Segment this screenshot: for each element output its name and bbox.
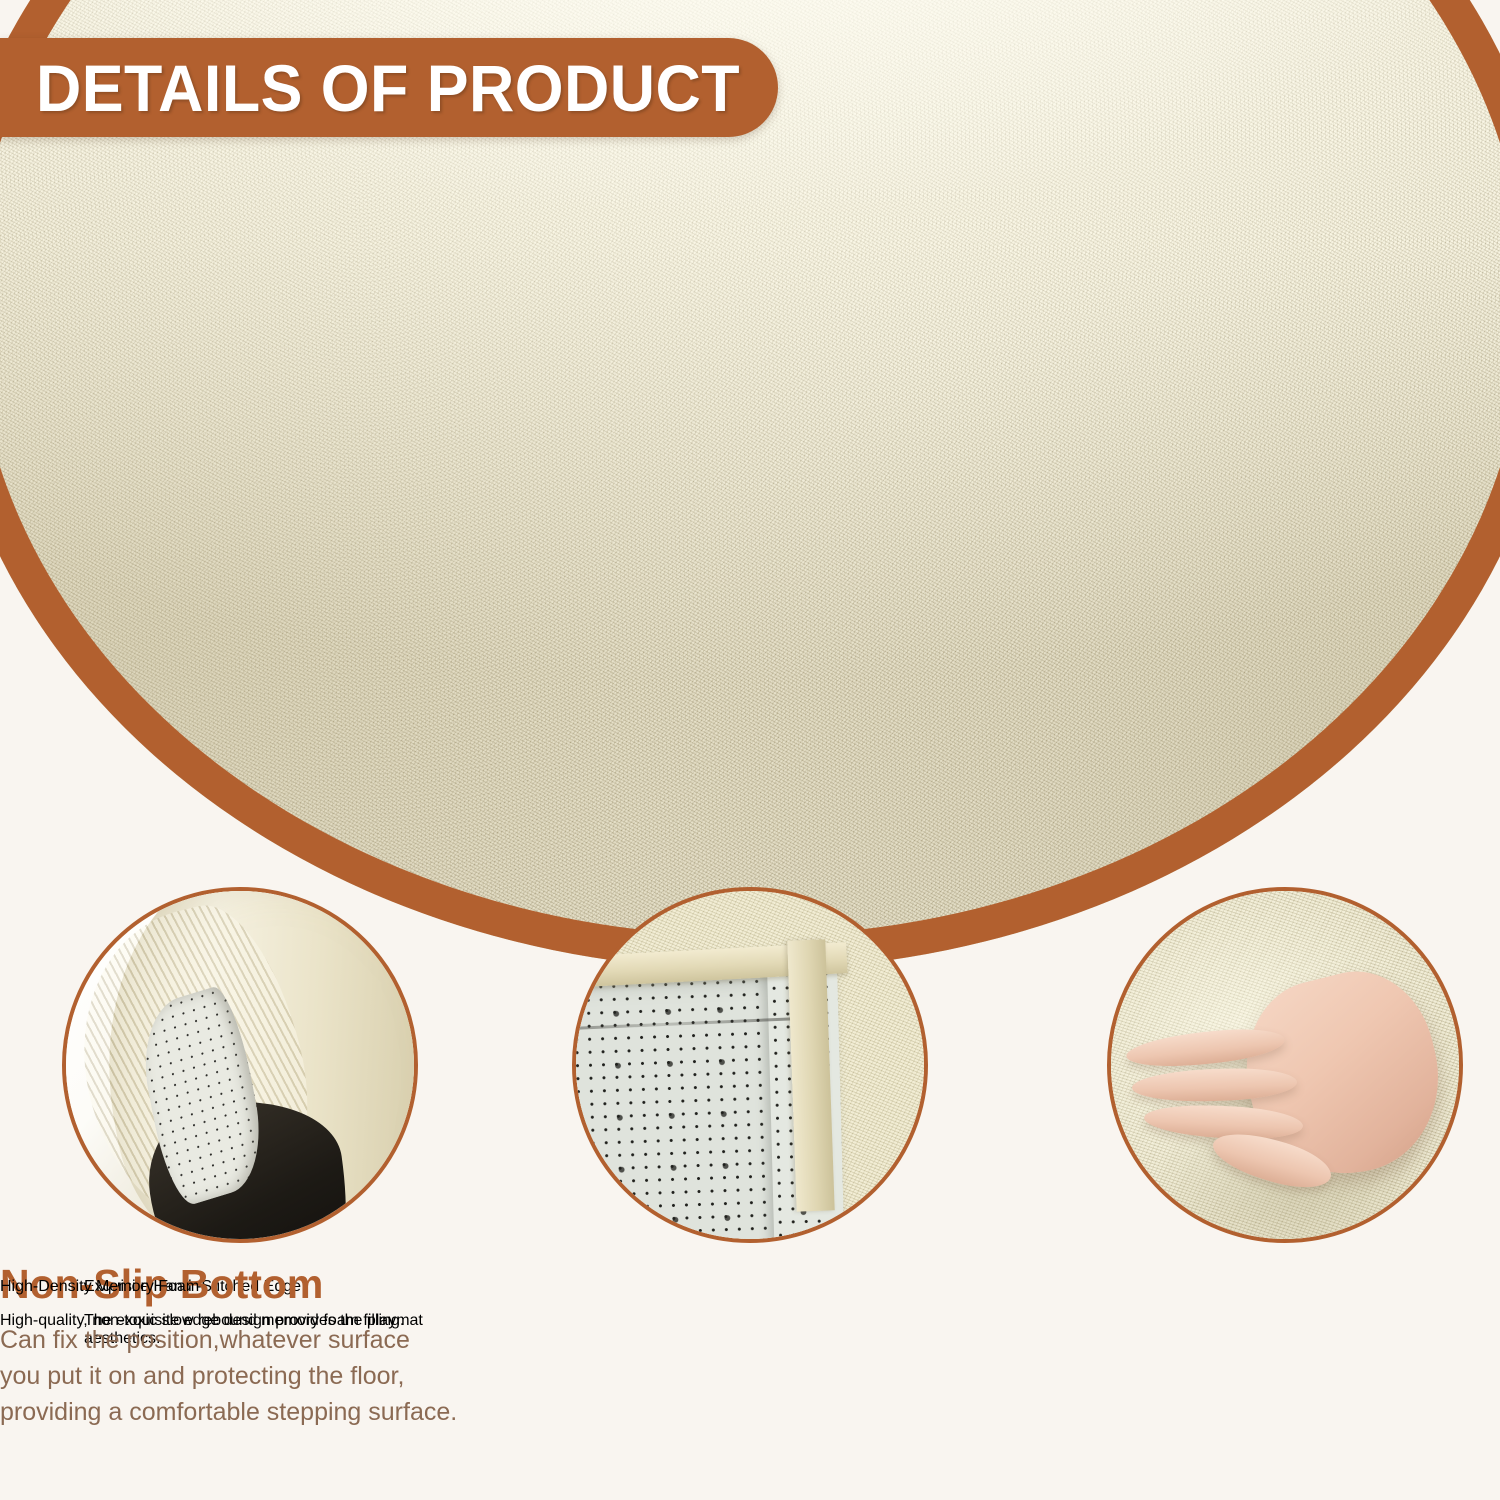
feature-circle-memory-foam [1107,887,1463,1243]
section-title-banner: DETAILS OF PRODUCT [0,38,778,137]
folded-mat-edge-closeup-image [66,891,414,1239]
non-slip-backing-corner-image [576,891,924,1239]
feature-description: High-quality, non-toxic slow rebound mem… [0,1312,404,1330]
feature-circle-hand-stitched-edge [62,887,418,1243]
product-details-infographic: DETAILS OF PRODUCT [0,0,1500,1500]
hand-pressing-foam-image [1111,891,1459,1239]
feature-title: High-Density Memory Foam [0,1278,404,1296]
feature-circle-non-slip-bottom [572,887,928,1243]
page-title: DETAILS OF PRODUCT [36,55,740,121]
feature-text-memory-foam: High-Density Memory Foam High-quality, n… [0,1262,404,1346]
hero-mat-photo [0,0,1500,1010]
hand-illustration [1132,968,1438,1184]
